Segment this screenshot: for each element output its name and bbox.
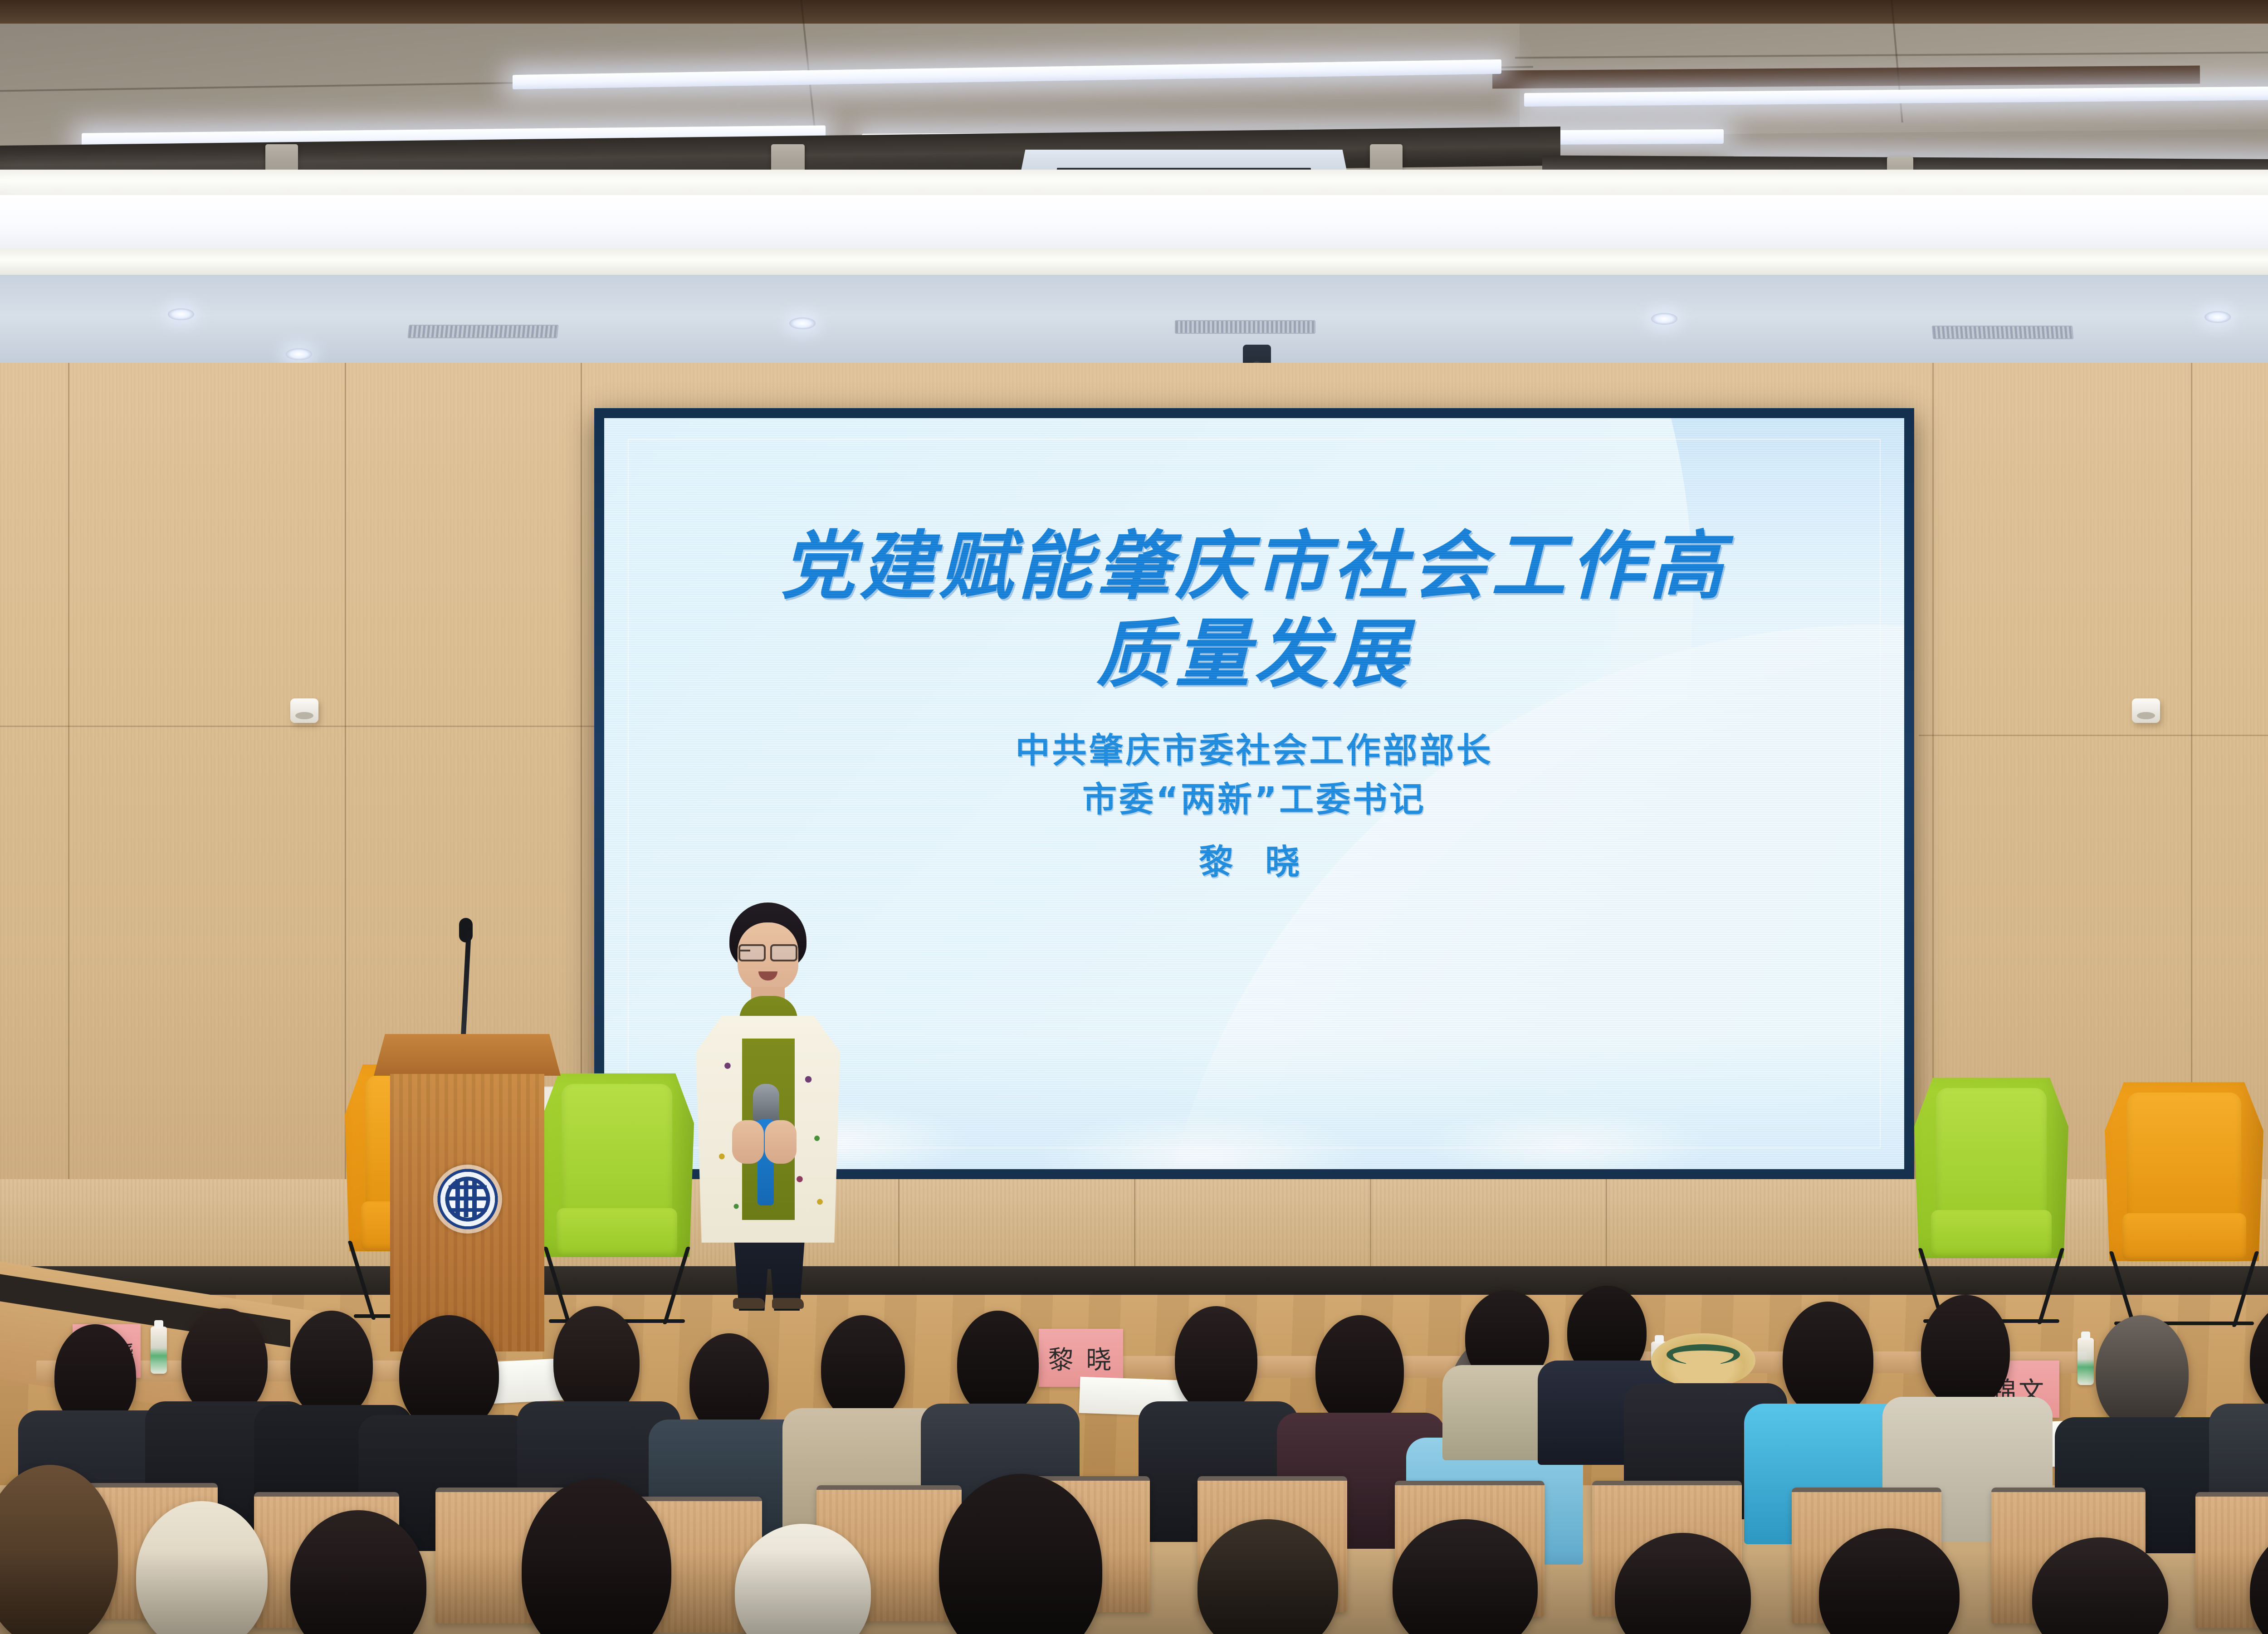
chair-back-cushion	[562, 1084, 673, 1218]
audience-head	[181, 1308, 268, 1417]
audience-head	[821, 1315, 905, 1422]
chair-leg	[543, 1247, 571, 1324]
presenter-hand	[732, 1120, 764, 1164]
presenter-hand	[765, 1120, 797, 1164]
wainscot-seam	[898, 1179, 899, 1270]
chair-leg	[2109, 1251, 2136, 1327]
ceiling-lower-plane	[0, 275, 2268, 366]
ceiling-soffit-lower	[0, 249, 2268, 277]
recessed-downlight	[1651, 313, 1677, 325]
audience-head	[1783, 1302, 1873, 1417]
recessed-downlight	[168, 308, 194, 320]
chair-seat-cushion	[1931, 1210, 2051, 1258]
recessed-downlight	[2204, 311, 2231, 323]
slide-presenter-name: 黎 晓	[1199, 834, 1310, 884]
chair-leg	[347, 1241, 376, 1320]
ceiling-vent	[1175, 320, 1315, 334]
foreground-vignette	[0, 1551, 2268, 1634]
slide-subtitle: 中共肇庆市委社会工作部部长 市委“两新”工委书记	[1016, 726, 1493, 824]
ceiling-cove-light	[0, 195, 2268, 249]
ceiling-trim-band	[0, 0, 2268, 24]
wall-panel-seam	[1919, 735, 2268, 736]
chair-seat-cushion	[557, 1208, 677, 1257]
wainscot-seam	[1606, 1179, 1607, 1270]
water-bottle[interactable]	[2077, 1338, 2094, 1385]
glasses-bridge	[738, 950, 750, 951]
audience-head	[1175, 1306, 1257, 1413]
lectern[interactable]	[390, 1034, 544, 1351]
lecture-hall-scene: 党建赋能肇庆市社会工作高 质量发展 中共肇庆市委社会工作部部长 市委“两新”工委…	[0, 0, 2268, 1634]
slide-title: 党建赋能肇庆市社会工作高 质量发展	[781, 522, 1728, 698]
wainscot-seam	[1370, 1179, 1371, 1270]
presenter-shoe	[772, 1298, 804, 1309]
audience-head	[290, 1311, 373, 1419]
presenter-shoe	[733, 1298, 765, 1309]
chair-seat-cushion	[2122, 1213, 2246, 1261]
audience-head	[1315, 1315, 1404, 1426]
ceiling-soffit-upper	[0, 170, 2268, 197]
handheld-microphone-head	[753, 1084, 779, 1123]
lectern-top	[374, 1034, 561, 1076]
water-bottle[interactable]	[151, 1327, 167, 1374]
recessed-downlight	[789, 317, 816, 329]
ceiling-vent	[1932, 326, 2074, 339]
presenter-figure	[676, 902, 857, 1306]
chair-back-cushion	[2127, 1093, 2241, 1224]
stage-chair-green-right[interactable]	[1914, 1070, 2068, 1324]
chair-back-cushion	[1936, 1088, 2047, 1220]
stage-chair-green-left[interactable]	[540, 1066, 694, 1324]
wall-panel-seam	[68, 363, 69, 1274]
stage-chair-orange-right[interactable]	[2105, 1075, 2263, 1327]
wall-speaker-icon	[290, 698, 318, 723]
audience-head	[1921, 1295, 2010, 1408]
straw-hat-icon	[1651, 1333, 1755, 1388]
institution-seal-icon	[433, 1165, 502, 1234]
audience-head	[957, 1311, 1039, 1416]
chair-leg	[2232, 1251, 2259, 1327]
wainscot-seam	[1134, 1179, 1135, 1270]
audience-head	[553, 1306, 640, 1417]
wall-panel-seam	[0, 726, 594, 727]
wall-speaker-icon	[2132, 698, 2160, 723]
lectern-body	[390, 1074, 544, 1351]
audience-head	[2096, 1315, 2189, 1431]
ceiling-vent	[407, 325, 558, 338]
chair-leg	[2037, 1248, 2064, 1324]
recessed-downlight	[286, 348, 312, 360]
